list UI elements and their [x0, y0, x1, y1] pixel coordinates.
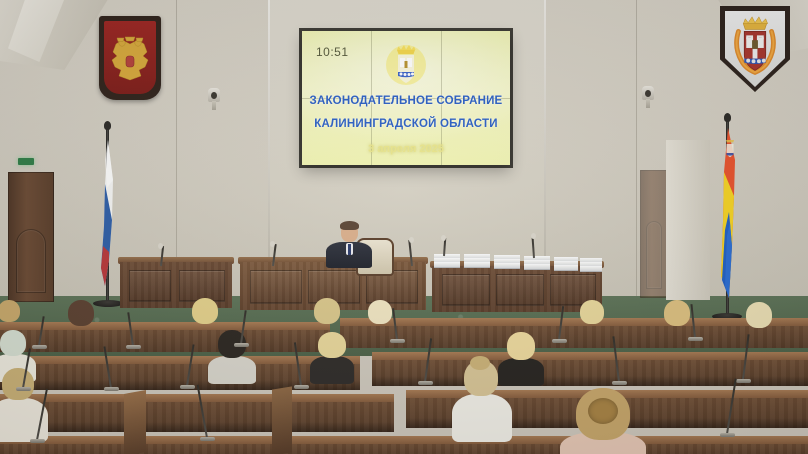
delegate-microphone — [206, 384, 209, 438]
mic-stem — [531, 236, 535, 258]
kaliningrad-oblast-coat-of-arms — [720, 6, 790, 92]
bench-row-1-right — [340, 318, 808, 348]
session-date: 3 апреля 2025 — [302, 143, 510, 155]
video-wall-display[interactable]: 10:51 ЗАКОНОДАТЕЛЬНОЕ СОБРАНИЕ КАЛИНИНГР… — [302, 31, 510, 165]
bay-edge-left — [268, 0, 270, 300]
wall-seam-right — [636, 0, 637, 330]
mic-head — [270, 241, 275, 247]
bench-front — [0, 444, 808, 454]
mic-head — [409, 237, 414, 243]
document-layer — [464, 262, 490, 268]
document-layer — [494, 263, 520, 269]
delegate-microphone — [694, 304, 697, 338]
presidium-microphone — [533, 236, 536, 258]
wall-pillar-right — [666, 140, 710, 300]
mic-base — [32, 345, 47, 349]
delegate-microphone — [618, 336, 621, 382]
attendee-4 — [312, 298, 342, 328]
attendee-head — [68, 300, 94, 326]
bench-front — [0, 330, 330, 352]
document-stack — [434, 254, 460, 266]
kaliningrad-oblast-flag — [708, 126, 748, 316]
mic-base — [104, 387, 119, 391]
bench-end-panel-center — [272, 386, 292, 454]
document-stack — [580, 258, 602, 270]
bay-edge-right — [544, 0, 546, 300]
presidium-microphone — [443, 238, 446, 256]
mic-base — [736, 379, 751, 383]
mic-base — [200, 437, 215, 441]
attendee-head — [580, 300, 604, 324]
mic-head — [531, 233, 536, 239]
presidium-microphone — [160, 246, 163, 266]
delegate-microphone — [396, 308, 399, 340]
attendee-2 — [66, 300, 96, 330]
attendee-15 — [560, 388, 646, 454]
session-clock: 10:51 — [316, 45, 349, 59]
camera-lens — [645, 90, 651, 97]
attendee-3 — [190, 298, 220, 328]
wall-camera-right — [640, 86, 656, 108]
camera-mount — [646, 99, 650, 108]
document-layer — [524, 264, 550, 270]
bench-front — [340, 326, 808, 348]
double-headed-eagle-icon — [108, 34, 152, 86]
desk-panel — [129, 270, 171, 302]
attendee-head — [314, 298, 340, 324]
delegate-microphone — [240, 310, 243, 344]
document-stack — [464, 254, 490, 266]
attendee-torso — [310, 356, 354, 384]
desk-panel — [496, 274, 544, 306]
attendee-torso — [208, 356, 256, 384]
mic-base — [612, 381, 627, 385]
attendee-11 — [310, 332, 354, 382]
chairman-hair — [340, 221, 359, 230]
camera-lens — [211, 92, 217, 99]
attendee-10 — [208, 330, 256, 382]
assembly-name-line1: ЗАКОНОДАТЕЛЬНОЕ СОБРАНИЕ — [302, 95, 510, 107]
presidium-microphone — [411, 240, 414, 266]
mic-base — [126, 345, 141, 349]
kaliningrad-emblem-icon — [725, 10, 785, 84]
delegate-microphone — [742, 334, 745, 380]
attendee-torso — [452, 394, 512, 442]
presidium-desk-right — [432, 266, 602, 312]
document-stack — [494, 255, 520, 267]
delegate-microphone — [558, 306, 561, 340]
attendee-hair-bun — [470, 356, 490, 370]
document-layer — [580, 266, 602, 272]
delegate-microphone — [110, 346, 113, 388]
document-layer — [434, 262, 460, 268]
attendee-5 — [366, 300, 394, 328]
attendee-hair-bun — [588, 398, 618, 424]
delegate-microphone — [300, 342, 303, 386]
mic-base — [294, 385, 309, 389]
flag-finial — [104, 121, 111, 130]
exit-sign-left — [18, 158, 34, 165]
attendee-1 — [0, 300, 22, 328]
mic-base — [180, 385, 195, 389]
attendee-14 — [452, 360, 512, 438]
desk-panel — [442, 274, 490, 306]
delegate-microphone — [36, 388, 39, 440]
bench-end-panel-left — [124, 390, 146, 454]
presidium-microphone — [272, 244, 275, 266]
russian-federation-flag — [92, 140, 122, 300]
document-layer — [554, 265, 578, 271]
delegate-microphone — [424, 338, 427, 382]
attendee-head — [664, 300, 690, 326]
attendee-head — [507, 332, 535, 360]
session-hall-screenshot: 10:51 ЗАКОНОДАТЕЛЬНОЕ СОБРАНИЕ КАЛИНИНГР… — [0, 0, 808, 454]
document-stack — [554, 257, 578, 269]
mic-base — [16, 387, 31, 391]
hall-door-right[interactable] — [640, 170, 668, 298]
flag-finial — [724, 113, 731, 122]
mic-base — [390, 339, 405, 343]
attendee-head — [0, 300, 20, 322]
door-panel — [16, 229, 46, 293]
delegate-microphone — [22, 348, 25, 388]
mic-head — [158, 243, 163, 249]
attendee-head — [192, 298, 218, 324]
attendee-8 — [744, 302, 774, 332]
attendee-head — [746, 302, 772, 328]
bench-row-1-left — [0, 322, 330, 352]
wall-camera-left — [206, 88, 222, 110]
bench-row-4 — [0, 436, 808, 454]
delegate-microphone — [38, 316, 41, 346]
mic-base — [234, 343, 249, 347]
desk-panel — [250, 270, 302, 304]
russian-federation-coat-of-arms — [99, 16, 161, 100]
delegate-microphone — [726, 378, 729, 434]
bench-shadow — [0, 422, 394, 432]
document-stack — [524, 256, 550, 268]
mic-base — [720, 433, 735, 437]
kaliningrad-emblem-icon — [384, 41, 428, 91]
delegate-microphone — [186, 344, 189, 386]
chairman-tie — [348, 244, 351, 255]
flag-base-left — [93, 300, 123, 307]
door-panel — [646, 221, 662, 289]
mic-base — [552, 339, 567, 343]
attendee-6 — [578, 300, 606, 328]
camera-mount — [212, 101, 216, 110]
chairman-at-presidium — [326, 222, 372, 266]
assembly-name-line2: КАЛИНИНГРАДСКОЙ ОБЛАСТИ — [302, 118, 510, 130]
attendee-head — [2, 368, 34, 400]
delegate-microphone — [132, 312, 135, 346]
mic-base — [688, 337, 703, 341]
mic-head — [441, 235, 446, 241]
mic-base — [418, 381, 433, 385]
attendee-head — [318, 332, 346, 358]
attendee-head — [368, 300, 392, 324]
hall-door-left[interactable] — [8, 172, 54, 302]
attendee-7 — [662, 300, 692, 330]
bench-row-3-left — [0, 394, 394, 432]
mic-base — [30, 439, 45, 443]
